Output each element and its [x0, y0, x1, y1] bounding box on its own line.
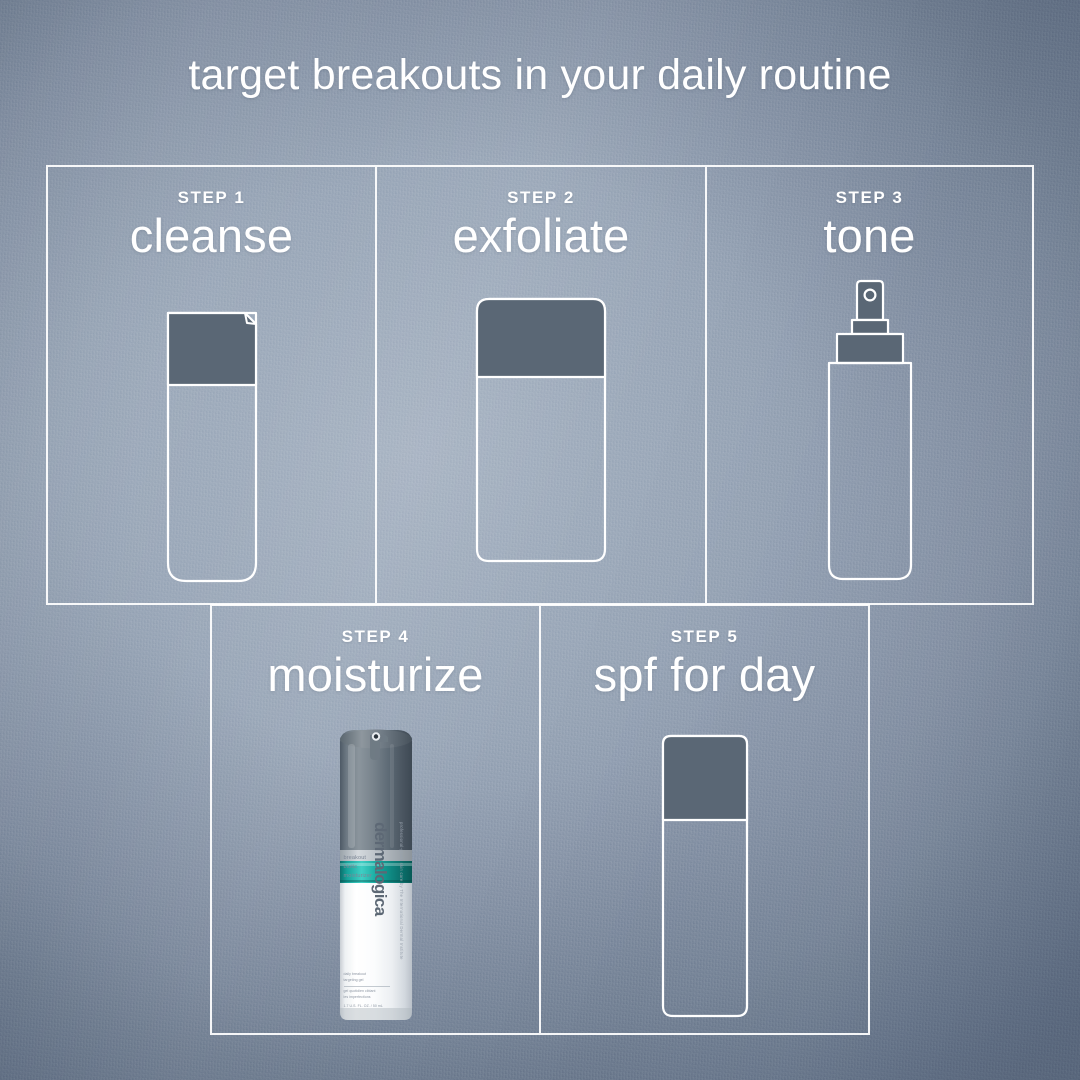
front-label-line-1: breakout — [344, 854, 408, 863]
step-artwork-1 — [48, 285, 375, 593]
step-number-2: STEP 2 — [377, 189, 705, 206]
step-panel-5[interactable]: STEP 5 spf for day — [540, 604, 870, 1035]
step-panel-3[interactable]: STEP 3 tone — [706, 165, 1034, 605]
step-number-3: STEP 3 — [707, 189, 1032, 206]
spf-tube-outline-icon — [645, 724, 765, 1024]
front-label-line-3: moisturizer — [344, 872, 408, 881]
step-name-2: exfoliate — [377, 211, 705, 260]
step-heading-5: STEP 5 spf for day — [541, 628, 868, 699]
step-number-1: STEP 1 — [48, 189, 375, 206]
step-number-5: STEP 5 — [541, 628, 868, 645]
step-artwork-5 — [541, 724, 868, 1024]
step-name-1: cleanse — [48, 211, 375, 260]
brand-subline-vertical: professional-grade skin care by The Inte… — [399, 822, 404, 960]
bottom-label-fr: gel quotidien ciblant les imperfections — [344, 989, 406, 1000]
step-number-4: STEP 4 — [212, 628, 539, 645]
step-heading-1: STEP 1 cleanse — [48, 189, 375, 260]
step-panel-1[interactable]: STEP 1 cleanse — [46, 165, 376, 605]
page-title: target breakouts in your daily routine — [0, 54, 1080, 97]
step-panel-4[interactable]: STEP 4 moisturize — [210, 604, 540, 1035]
step-artwork-3 — [707, 277, 1032, 597]
exfoliant-tube-outline-icon — [461, 285, 621, 575]
step-name-3: tone — [707, 211, 1032, 260]
step-artwork-4: dermalogica professional-grade skin care… — [212, 726, 539, 1026]
toner-spray-bottle-outline-icon — [805, 277, 935, 597]
step-panel-2[interactable]: STEP 2 exfoliate — [376, 165, 706, 605]
poster-canvas: target breakouts in your daily routine S… — [0, 0, 1080, 1080]
step-heading-2: STEP 2 exfoliate — [377, 189, 705, 260]
front-label-line-2: biotic — [344, 863, 408, 872]
step-artwork-2 — [377, 285, 705, 575]
label-divider — [344, 986, 390, 987]
step-heading-4: STEP 4 moisturize — [212, 628, 539, 699]
step-heading-3: STEP 3 tone — [707, 189, 1032, 260]
dermalogica-bottle: dermalogica professional-grade skin care… — [324, 726, 428, 1026]
product-front-label: breakout biotic moisturizer — [344, 854, 408, 880]
product-bottom-label: daily breakout targeting gel gel quotidi… — [344, 972, 406, 1009]
step-name-5: spf for day — [541, 650, 868, 699]
bottom-label-en: daily breakout targeting gel — [344, 972, 406, 983]
product-volume: 1.7 U.S. FL. OZ. / 50 mL — [344, 1004, 406, 1010]
step-name-4: moisturize — [212, 650, 539, 699]
cleanser-bottle-outline-icon — [152, 285, 272, 593]
